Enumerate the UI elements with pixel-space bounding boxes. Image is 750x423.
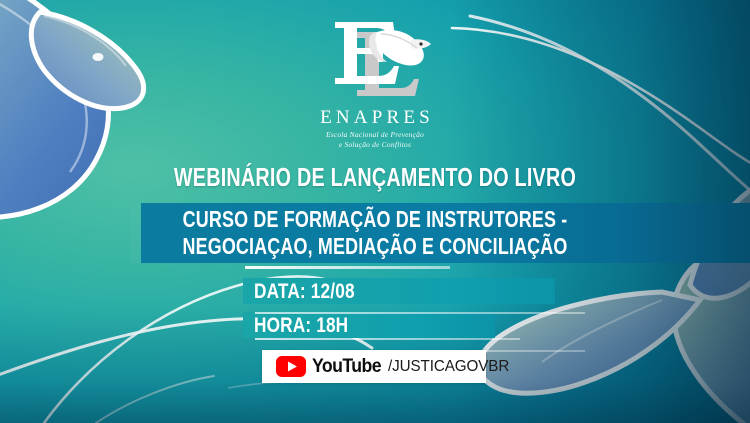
youtube-badge[interactable]: YouTube /JUSTICAGOVBR: [262, 350, 486, 383]
rule-top: [245, 266, 450, 269]
event-time-text: HORA: 18H: [254, 315, 348, 336]
rule-bottom: [255, 338, 520, 340]
event-date-text: DATA: 12/08: [254, 281, 355, 302]
youtube-brand-text: YouTube: [312, 357, 381, 376]
headline-text: WEBINÁRIO DE LANÇAMENTO DO LIVRO: [90, 164, 660, 191]
subtitle-line1: CURSO DE FORMAÇÃO DE INSTRUTORES -: [83, 206, 668, 233]
headline-container: WEBINÁRIO DE LANÇAMENTO DO LIVRO: [0, 164, 750, 191]
subtitle-container: CURSO DE FORMAÇÃO DE INSTRUTORES - NEGOC…: [0, 206, 750, 260]
youtube-play-icon: [276, 356, 306, 377]
event-date-row: DATA: 12/08: [243, 278, 555, 304]
logo-subtitle: Escola Nacional de Prevenção e Solução d…: [326, 130, 424, 150]
logo-subtitle-line1: Escola Nacional de Prevenção: [326, 130, 424, 140]
enapres-logo: ENAPRES Escola Nacional de Prevenção e S…: [0, 14, 750, 150]
event-time-row: HORA: 18H: [243, 312, 495, 338]
youtube-handle-text: /JUSTICAGOVBR: [388, 359, 509, 375]
logo-subtitle-line2: e Solução de Conflitos: [326, 140, 424, 150]
webinar-poster: ENAPRES Escola Nacional de Prevenção e S…: [0, 0, 750, 423]
logo-monogram-icon: [315, 14, 435, 106]
logo-name: ENAPRES: [316, 108, 434, 127]
subtitle-line2: NEGOCIAÇAO, MEDIAÇÃO E CONCILIAÇÃO: [83, 233, 668, 260]
